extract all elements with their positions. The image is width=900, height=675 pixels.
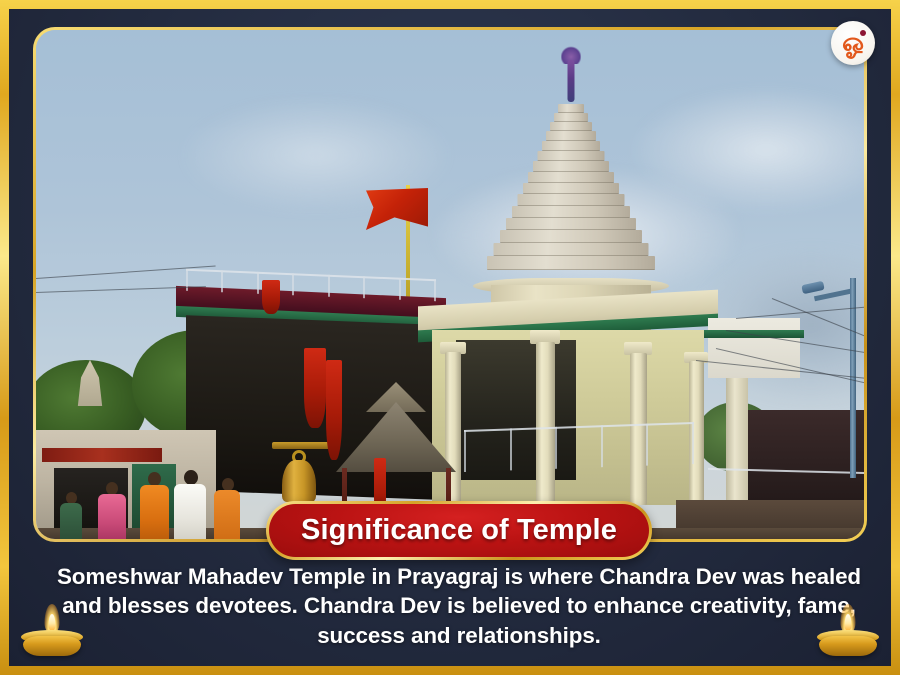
mandapa-railing-posts bbox=[464, 422, 694, 472]
rail-post bbox=[692, 422, 694, 464]
flame-core bbox=[49, 614, 56, 631]
person-head bbox=[148, 472, 161, 486]
devotee bbox=[214, 490, 240, 539]
shikhara-step bbox=[487, 256, 655, 270]
rail-post bbox=[510, 428, 512, 470]
shikhara-step bbox=[558, 104, 584, 113]
rail-post bbox=[399, 278, 401, 300]
red-cloth-banner bbox=[262, 280, 280, 314]
devotee bbox=[174, 484, 206, 539]
rail-post bbox=[363, 276, 365, 298]
diya-bowl bbox=[819, 636, 877, 656]
photo-gold-frame bbox=[33, 27, 867, 542]
shikhara-step bbox=[546, 131, 596, 141]
shikhara-step bbox=[506, 218, 636, 230]
diya-lamp-right-icon bbox=[815, 608, 881, 658]
significance-badge[interactable]: Significance of Temple bbox=[266, 501, 652, 560]
shikhara-step bbox=[494, 243, 649, 256]
brand-logo[interactable]: ஓ bbox=[831, 21, 875, 65]
shikhara-step bbox=[550, 122, 592, 131]
shikhara-step bbox=[554, 113, 588, 122]
temple-finial bbox=[568, 60, 575, 102]
diya-lamp-left-icon bbox=[19, 608, 85, 658]
shikhara-step bbox=[528, 172, 614, 183]
rail-post bbox=[434, 279, 436, 301]
shikhara-step bbox=[523, 183, 619, 194]
rail-post bbox=[328, 275, 330, 297]
rail-post bbox=[221, 270, 223, 292]
shikhara-step bbox=[500, 230, 642, 243]
devotional-info-card: ஓ Significance of Temple Someshwar Mahad… bbox=[0, 0, 900, 675]
devotee bbox=[98, 494, 126, 539]
rail-post bbox=[601, 425, 603, 467]
shikhara-step bbox=[512, 206, 630, 218]
rail-post bbox=[464, 430, 466, 472]
rail-post bbox=[292, 273, 294, 295]
bell-beam bbox=[272, 442, 330, 449]
shikhara-step bbox=[542, 141, 600, 151]
devotee bbox=[140, 485, 169, 539]
flame-core bbox=[845, 614, 852, 631]
brass-bell bbox=[282, 460, 316, 502]
devotee bbox=[60, 503, 82, 539]
mandapa-pillar bbox=[536, 342, 555, 507]
rail-post bbox=[646, 424, 648, 466]
shikhara-step bbox=[518, 194, 625, 206]
diya-bowl bbox=[23, 636, 81, 656]
badge-inner: Significance of Temple bbox=[269, 504, 649, 557]
red-cloth-banner bbox=[304, 348, 326, 428]
caption-text: Someshwar Mahadev Temple in Prayagraj is… bbox=[39, 562, 879, 650]
red-cloth-banner bbox=[326, 360, 342, 460]
navy-mat-background: ஓ Significance of Temple Someshwar Mahad… bbox=[9, 9, 891, 666]
shikhara-step bbox=[538, 151, 605, 161]
shop-signboard bbox=[42, 448, 162, 462]
badge-label: Significance of Temple bbox=[301, 514, 617, 547]
temple-photograph bbox=[36, 30, 864, 539]
logo-dot-icon bbox=[860, 30, 866, 36]
shikhara-step bbox=[533, 161, 609, 172]
rail-post bbox=[555, 427, 557, 469]
rail-post bbox=[257, 272, 259, 294]
person-head bbox=[184, 470, 198, 485]
